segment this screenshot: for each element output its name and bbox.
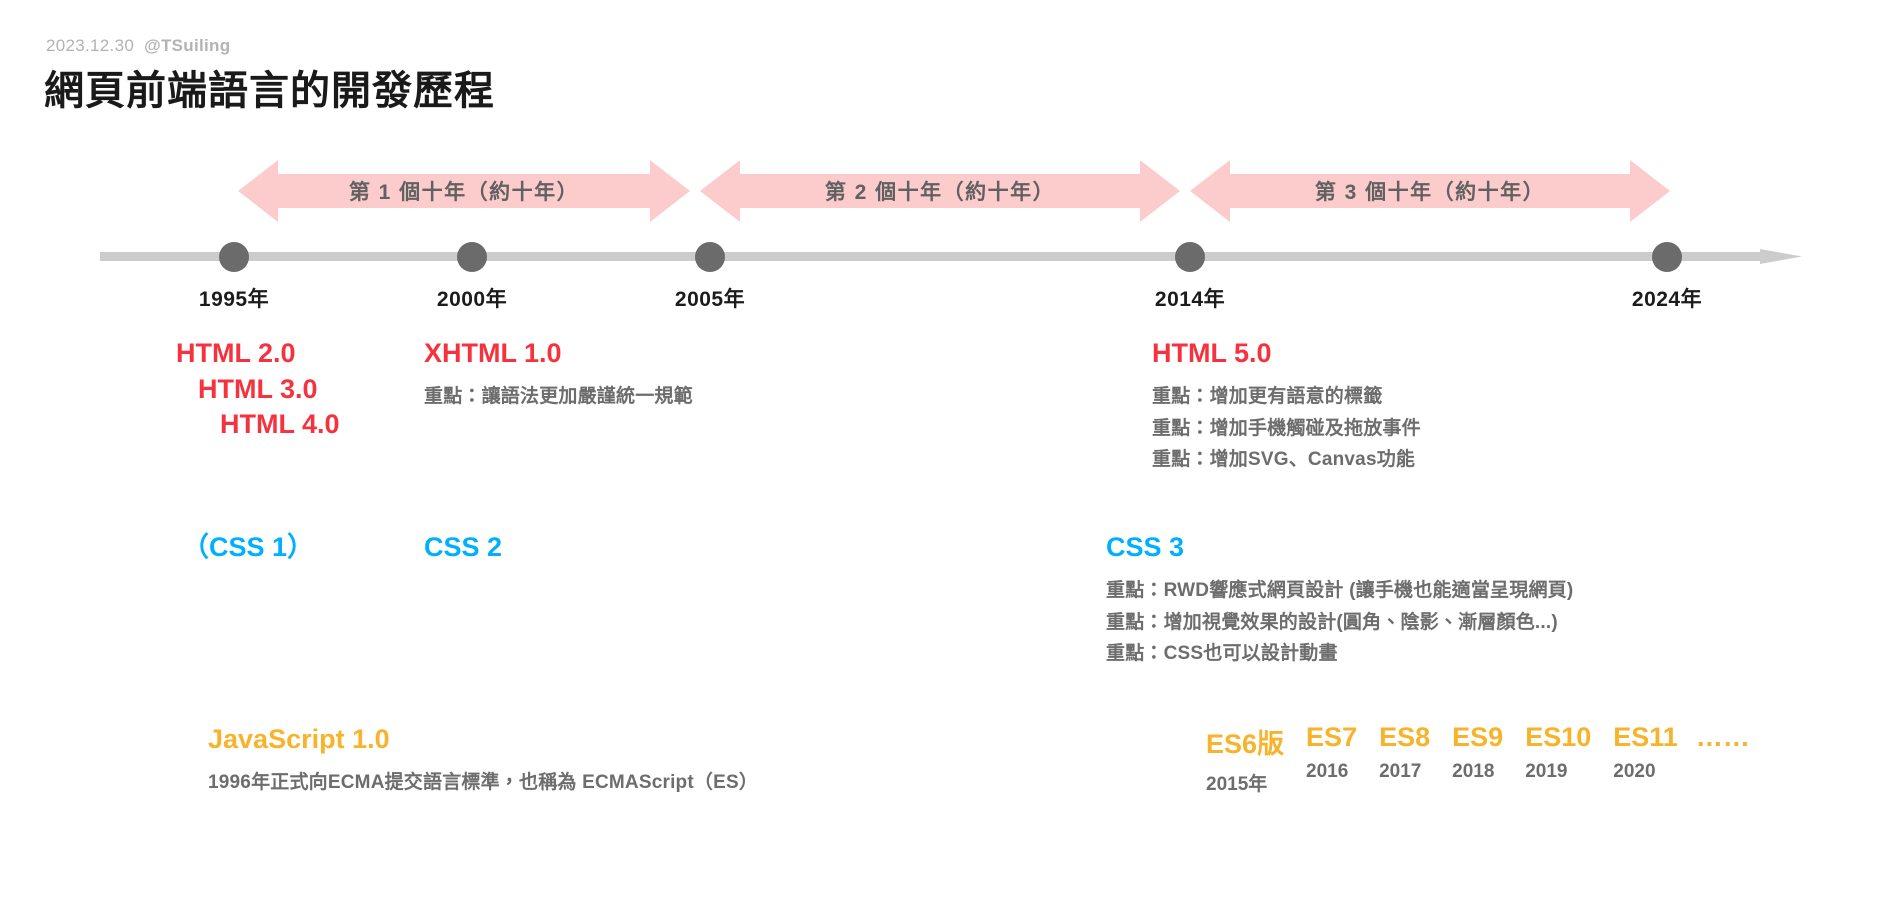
html-early-versions-block: HTML 2.0 HTML 3.0 HTML 4.0 [176, 336, 340, 443]
html5-note-3: 重點：增加SVG、Canvas功能 [1152, 444, 1421, 476]
decade-band-2: 第 2 個十年（約十年） [700, 160, 1180, 222]
timeline-label-2024: 2024年 [1632, 283, 1702, 313]
html-version-4: HTML 4.0 [220, 407, 340, 443]
decade-label-1: 第 1 個十年（約十年） [238, 160, 690, 222]
xhtml-block: XHTML 1.0 重點：讓語法更加嚴謹統一規範 [424, 336, 693, 413]
timeline-dot-2000[interactable] [457, 242, 487, 272]
es-year: 2017 [1379, 761, 1430, 783]
axis-arrow-icon [100, 249, 1802, 279]
timeline-label-1995: 1995年 [199, 283, 269, 313]
javascript-note-1: 1996年正式向ECMA提交語言標準，也稱為 ECMAScript（ES） [208, 767, 758, 799]
es-year: 2016 [1306, 761, 1357, 783]
es-more-ellipsis: …… [1696, 722, 1750, 753]
es-name: ES6版 [1206, 722, 1284, 761]
javascript-block: JavaScript 1.0 1996年正式向ECMA提交語言標準，也稱為 EC… [208, 722, 758, 799]
timeline-label-2000: 2000年 [437, 283, 507, 313]
timeline-dot-2005[interactable] [695, 242, 725, 272]
es-name: ES11 [1613, 722, 1678, 753]
es-item: ES9 2018 [1452, 722, 1503, 783]
es-year: 2015年 [1206, 769, 1284, 796]
es-versions-row: ES6版 2015年 ES7 2016 ES8 2017 ES9 2018 ES… [1206, 722, 1750, 796]
decade-band-1: 第 1 個十年（約十年） [238, 160, 690, 222]
timeline-dot-2014[interactable] [1175, 242, 1205, 272]
page-title: 網頁前端語言的開發歷程 [44, 58, 495, 116]
decade-label-3: 第 3 個十年（約十年） [1190, 160, 1670, 222]
byline: 2023.12.30@TSuiling [46, 36, 230, 56]
html5-note-2: 重點：增加手機觸碰及拖放事件 [1152, 413, 1421, 445]
publish-date: 2023.12.30 [46, 36, 134, 55]
css3-block: CSS 3 重點：RWD響應式網頁設計 (讓手機也能適當呈現網頁) 重點：增加視… [1106, 530, 1573, 670]
html-version-2: HTML 2.0 [176, 336, 340, 372]
es-year: 2020 [1613, 761, 1678, 783]
css3-note-3: 重點：CSS也可以設計動畫 [1106, 638, 1573, 670]
timeline-axis [100, 249, 1802, 279]
css2-block: CSS 2 [424, 530, 502, 566]
css3-note-1: 重點：RWD響應式網頁設計 (讓手機也能適當呈現網頁) [1106, 575, 1573, 607]
css3-note-2: 重點：增加視覺效果的設計(圓角、陰影、漸層顏色...) [1106, 607, 1573, 639]
decade-band-3: 第 3 個十年（約十年） [1190, 160, 1670, 222]
es-year: 2019 [1525, 761, 1591, 783]
es-item: ES6版 2015年 [1206, 722, 1284, 796]
es-name: ES8 [1379, 722, 1430, 753]
css1-block: （CSS 1） [182, 530, 314, 566]
es-item: ES8 2017 [1379, 722, 1430, 783]
timeline-label-2014: 2014年 [1155, 283, 1225, 313]
timeline-label-2005: 2005年 [675, 283, 745, 313]
timeline-dot-1995[interactable] [219, 242, 249, 272]
css2-title: CSS 2 [424, 530, 502, 566]
es-item: ES11 2020 [1613, 722, 1678, 783]
timeline-dot-2024[interactable] [1652, 242, 1682, 272]
xhtml-note-1: 重點：讓語法更加嚴謹統一規範 [424, 381, 693, 413]
es-name: ES7 [1306, 722, 1357, 753]
xhtml-title: XHTML 1.0 [424, 336, 693, 372]
es-year: 2018 [1452, 761, 1503, 783]
es-item: ES7 2016 [1306, 722, 1357, 783]
decade-label-2: 第 2 個十年（約十年） [700, 160, 1180, 222]
html5-block: HTML 5.0 重點：增加更有語意的標籤 重點：增加手機觸碰及拖放事件 重點：… [1152, 336, 1421, 476]
timeline-infographic: 2023.12.30@TSuiling 網頁前端語言的開發歷程 第 1 個十年（… [0, 0, 1900, 900]
javascript-title: JavaScript 1.0 [208, 722, 758, 758]
es-name: ES10 [1525, 722, 1591, 753]
css1-title: （CSS 1） [182, 530, 314, 566]
es-item: ES10 2019 [1525, 722, 1591, 783]
html5-note-1: 重點：增加更有語意的標籤 [1152, 381, 1421, 413]
html-version-3: HTML 3.0 [198, 372, 340, 408]
author-handle: @TSuiling [144, 36, 230, 55]
html5-title: HTML 5.0 [1152, 336, 1421, 372]
es-name: ES9 [1452, 722, 1503, 753]
css3-title: CSS 3 [1106, 530, 1573, 566]
